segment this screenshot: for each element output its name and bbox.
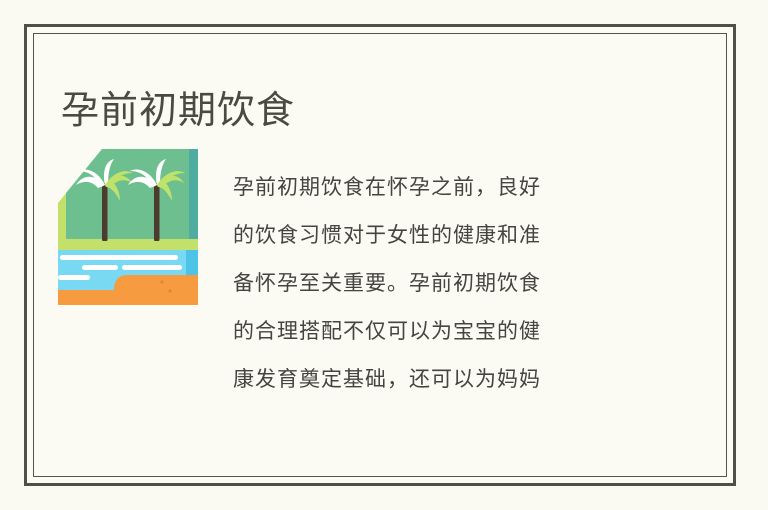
body-line: 的饮食习惯对于女性的健康和准 [233, 211, 645, 259]
body-line: 的合理搭配不仅可以为宝宝的健 [233, 307, 645, 355]
document-page: 孕前初期饮食 [0, 0, 768, 510]
body-line: 备怀孕至关重要。孕前初期饮食 [233, 259, 645, 307]
article-body: 孕前初期饮食在怀孕之前，良好 的饮食习惯对于女性的健康和准 备怀孕至关重要。孕前… [233, 163, 645, 403]
beach-island-palm-trees-illustration [58, 145, 206, 305]
page-title: 孕前初期饮食 [61, 89, 295, 133]
body-line: 孕前初期饮食在怀孕之前，良好 [233, 163, 645, 211]
body-line: 康发育奠定基础，还可以为妈妈 [233, 355, 645, 403]
